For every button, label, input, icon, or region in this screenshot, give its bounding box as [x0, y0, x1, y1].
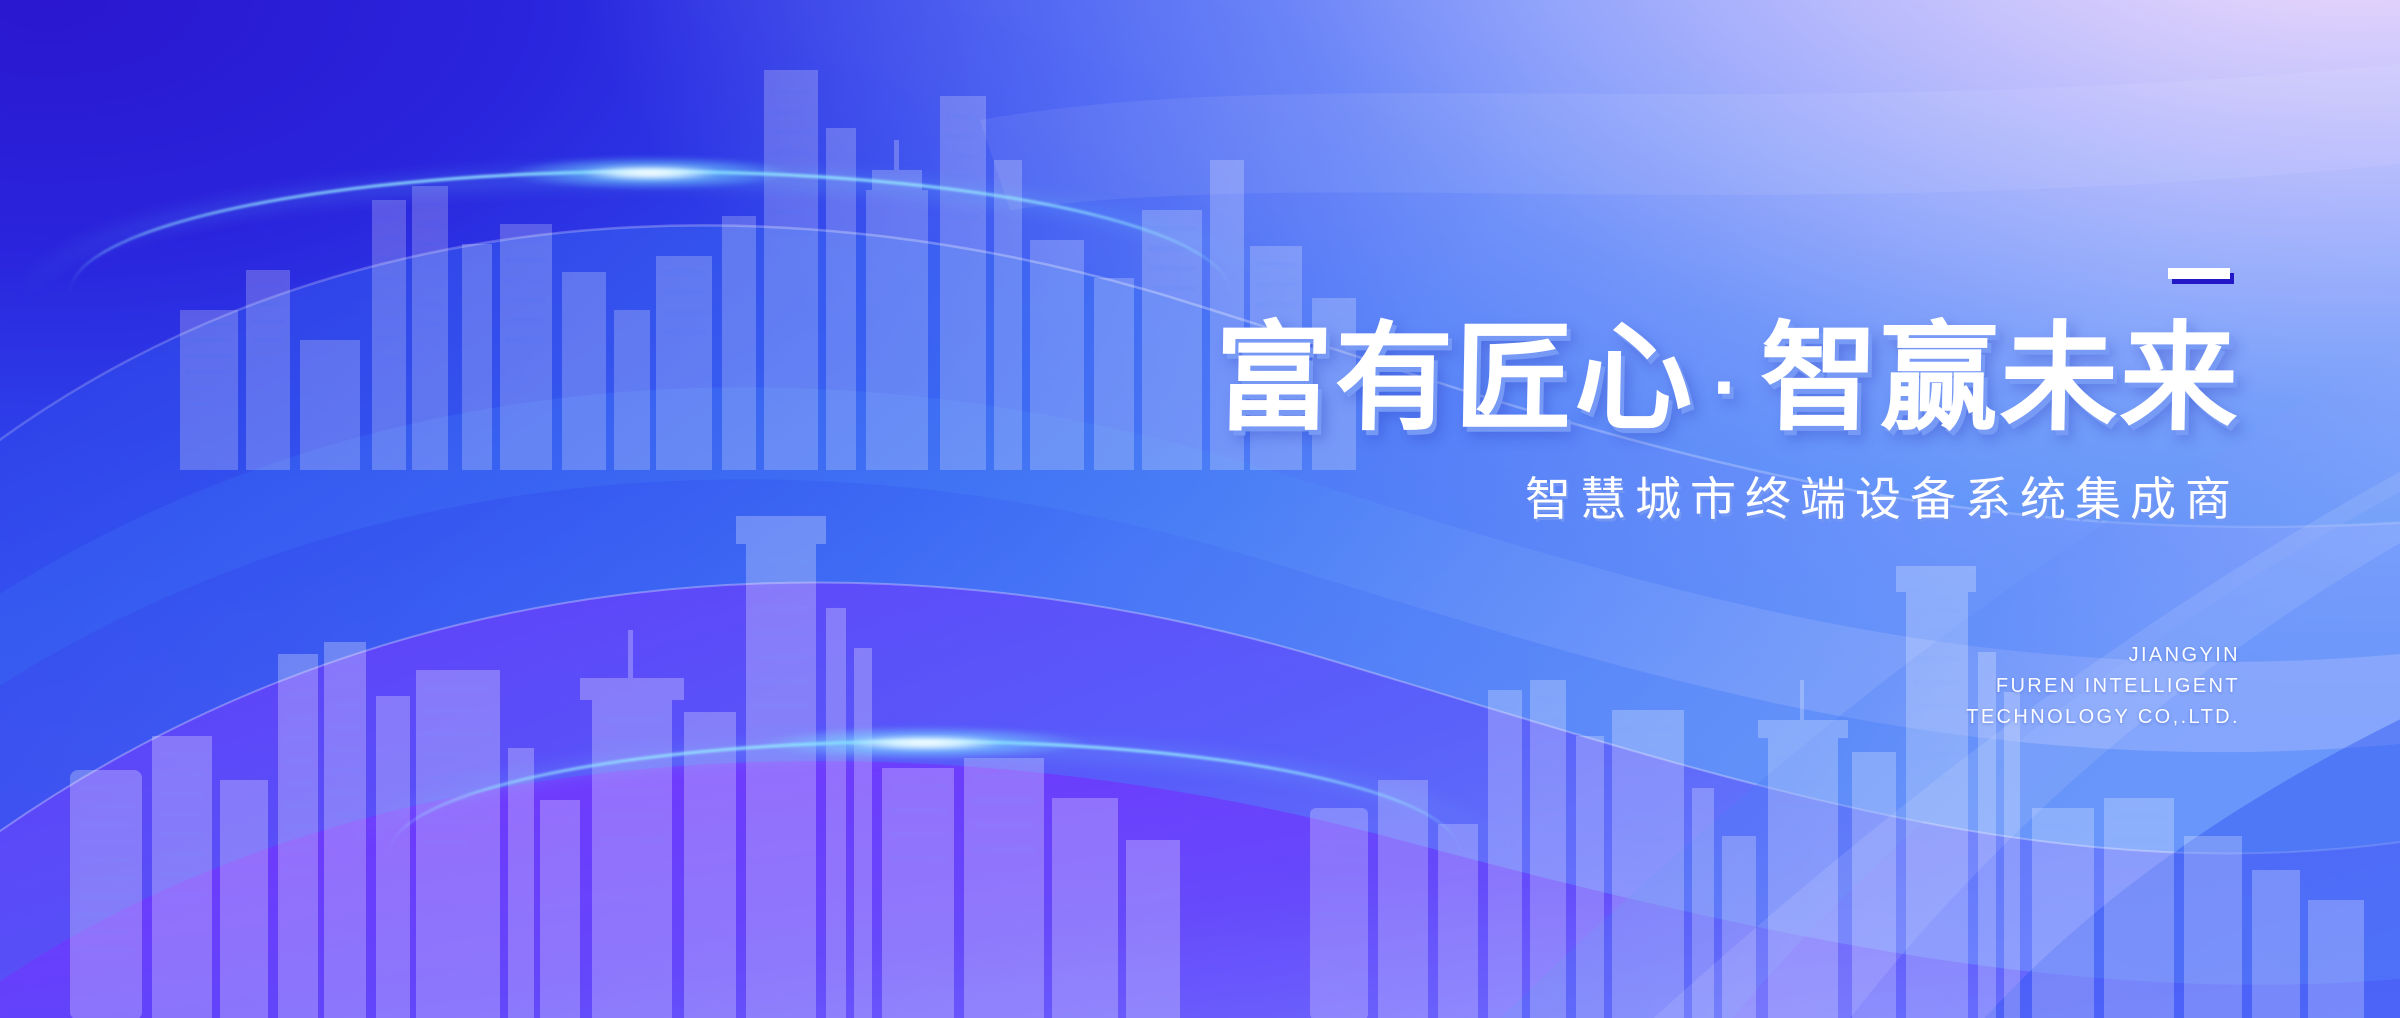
page-title: 富有匠心·智赢未来 — [1119, 318, 2241, 441]
company-line-name: FUREN INTELLIGENT — [1966, 671, 2240, 702]
headline-block: 富有匠心·智赢未来 智慧城市终端设备系统集成商 — [1120, 268, 2240, 529]
banner-canvas: 富有匠心·智赢未来 智慧城市终端设备系统集成商 JIANGYIN FUREN I… — [0, 0, 2400, 1018]
company-name-block: JIANGYIN FUREN INTELLIGENT TECHNOLOGY CO… — [1966, 640, 2240, 733]
headline-right: 智赢未来 — [1759, 313, 2241, 445]
accent-dash-row — [1120, 268, 2240, 318]
company-line-suffix: TECHNOLOGY CO,.LTD. — [1966, 702, 2240, 733]
company-line-city: JIANGYIN — [1966, 640, 2240, 671]
page-subtitle: 智慧城市终端设备系统集成商 — [1120, 463, 2240, 529]
headline-left: 富有匠心 — [1214, 313, 1696, 445]
headline-separator: · — [1694, 342, 1761, 433]
accent-dash-icon — [2168, 268, 2230, 279]
